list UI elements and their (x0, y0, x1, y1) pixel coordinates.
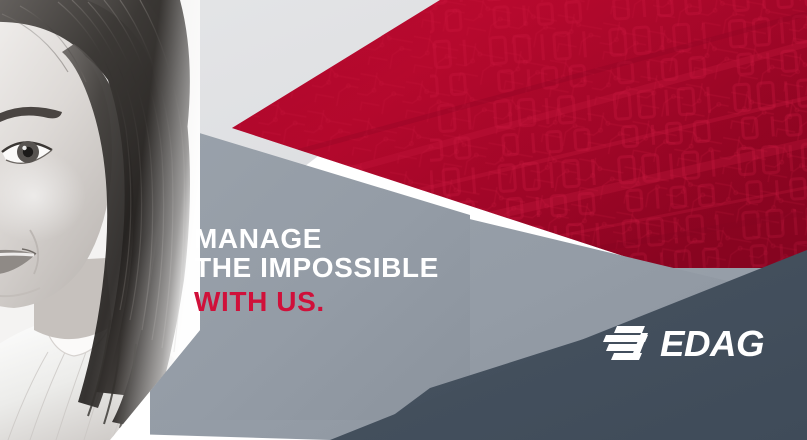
tagline-line-1: MANAGE (194, 224, 439, 253)
portrait-photo (0, 0, 807, 440)
portrait-clip-group (0, 0, 210, 440)
tagline: MANAGE THE IMPOSSIBLE WITH US. (194, 224, 439, 316)
edag-brand-banner: MANAGE THE IMPOSSIBLE WITH US. EDAG (0, 0, 807, 440)
edag-wordmark: EDAG (660, 326, 764, 362)
portrait-edge-fade (0, 0, 210, 440)
tagline-line-3: WITH US. (194, 287, 439, 316)
edag-logo[interactable]: EDAG (600, 324, 762, 364)
tagline-line-2: THE IMPOSSIBLE (194, 253, 439, 282)
edag-bars-mark-icon (600, 324, 652, 364)
